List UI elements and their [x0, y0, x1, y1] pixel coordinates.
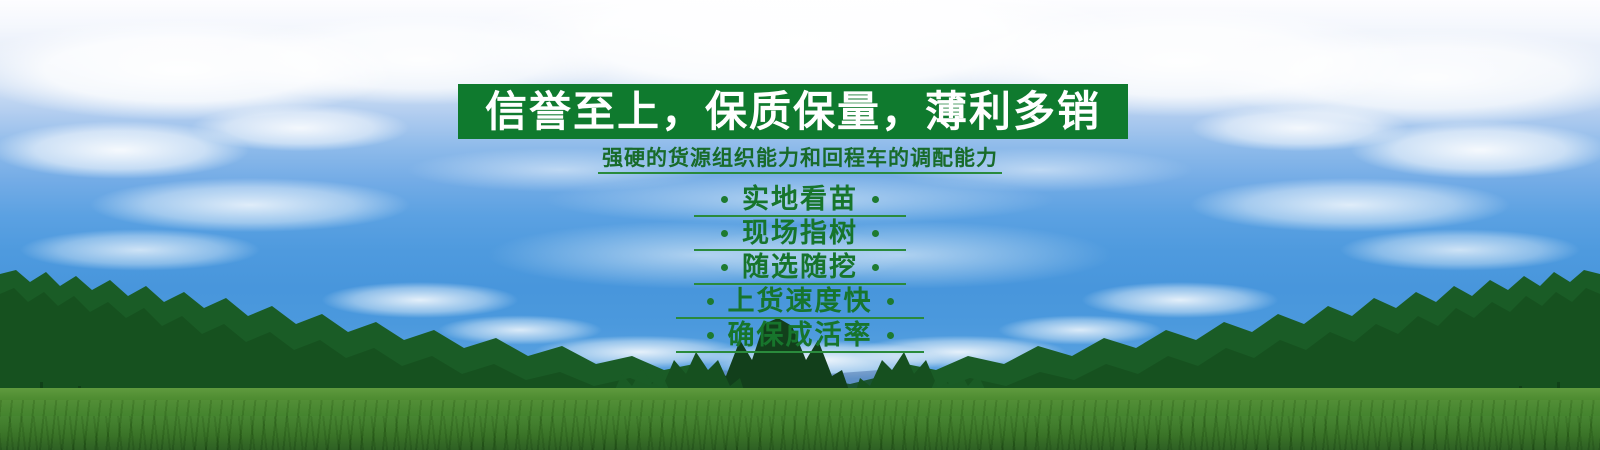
- feature-list: 实地看苗 现场指树 随选随挖 上货速度快: [0, 182, 1600, 352]
- feature-item: 实地看苗: [721, 182, 879, 216]
- feature-item: 上货速度快: [707, 284, 894, 318]
- bullet-dot-icon: [707, 298, 714, 305]
- bullet-dot-icon: [707, 332, 714, 339]
- bullet-dot-icon: [872, 264, 879, 271]
- feature-label: 随选随挖: [742, 254, 858, 281]
- feature-item: 随选随挖: [721, 250, 879, 284]
- feature-item: 确保成活率: [707, 318, 894, 352]
- feature-underline: [676, 351, 924, 353]
- feature-label: 实地看苗: [742, 186, 858, 213]
- feature-label: 现场指树: [742, 220, 858, 247]
- banner-content: 信誉至上，保质保量，薄利多销 强硬的货源组织能力和回程车的调配能力 实地看苗 现…: [0, 0, 1600, 450]
- subheadline-text: 强硬的货源组织能力和回程车的调配能力: [598, 146, 1002, 174]
- bullet-dot-icon: [721, 230, 728, 237]
- bullet-dot-icon: [887, 298, 894, 305]
- feature-label: 确保成活率: [728, 322, 873, 349]
- promotional-banner: 信誉至上，保质保量，薄利多销 强硬的货源组织能力和回程车的调配能力 实地看苗 现…: [0, 0, 1600, 450]
- bullet-dot-icon: [721, 196, 728, 203]
- feature-item: 现场指树: [721, 216, 879, 250]
- feature-label: 上货速度快: [728, 288, 873, 315]
- headline-bar: 信誉至上，保质保量，薄利多销: [458, 84, 1128, 139]
- bullet-dot-icon: [872, 196, 879, 203]
- bullet-dot-icon: [872, 230, 879, 237]
- headline-text: 信誉至上，保质保量，薄利多销: [485, 91, 1101, 133]
- bullet-dot-icon: [721, 264, 728, 271]
- bullet-dot-icon: [887, 332, 894, 339]
- subheadline: 强硬的货源组织能力和回程车的调配能力: [0, 146, 1600, 174]
